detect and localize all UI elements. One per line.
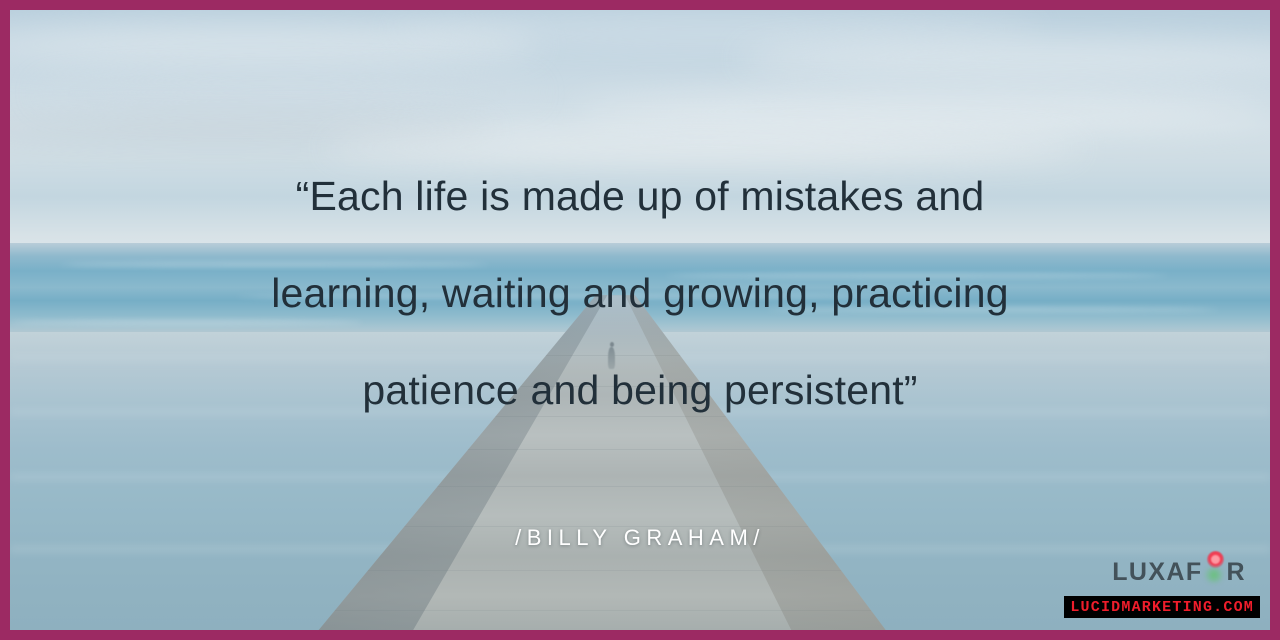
luxafor-light-icon [1204, 561, 1226, 583]
quote-attribution: /BILLY GRAHAM/ [10, 525, 1270, 551]
quote-line-1: “Each life is made up of mistakes and [10, 148, 1270, 245]
cloud-streak [35, 78, 539, 107]
logo-text-prefix: LUXAF [1112, 560, 1202, 585]
green-glow [1205, 567, 1223, 583]
cloud-streak [577, 94, 1270, 129]
red-ring-core [1211, 555, 1220, 564]
luxafor-logo[interactable]: LUXAF R [1112, 558, 1246, 586]
quote-text: “Each life is made up of mistakes and le… [10, 148, 1270, 439]
cloud-streak [741, 39, 1270, 78]
logo-text-suffix: R [1227, 560, 1246, 585]
quote-poster: “Each life is made up of mistakes and le… [0, 0, 1280, 640]
quote-line-2: learning, waiting and growing, practicin… [10, 245, 1270, 342]
quote-line-3: patience and being persistent” [10, 342, 1270, 439]
site-watermark: LUCIDMARKETING.COM [1064, 596, 1260, 618]
